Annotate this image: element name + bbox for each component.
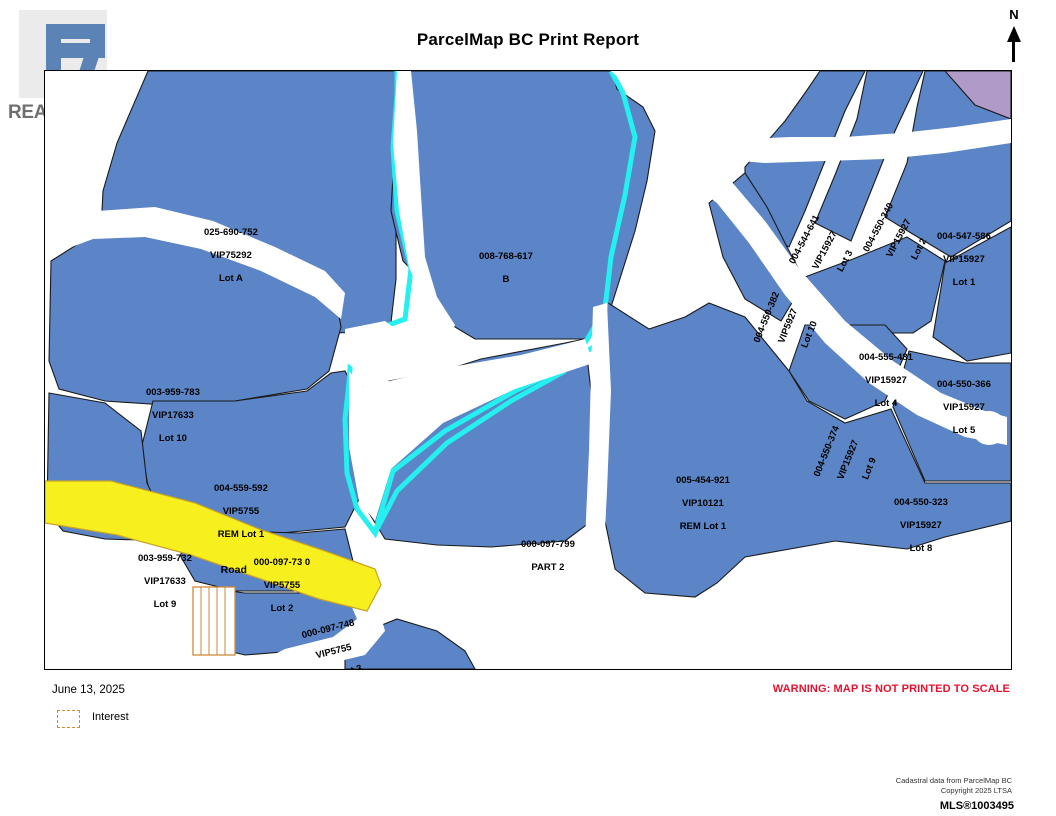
compass-arrow-stem (1012, 40, 1015, 62)
legend: Interest (52, 708, 292, 730)
legend-swatch-interest (57, 710, 80, 728)
print-report-page: REALTOR® ParcelMap BC Print Report N (0, 0, 1056, 816)
legend-label-interest: Interest (92, 711, 129, 723)
north-label: N (996, 8, 1032, 22)
north-arrow-icon: N (996, 8, 1032, 66)
interest-hatch-rect (193, 587, 235, 655)
report-date: June 13, 2025 (52, 684, 125, 696)
page-title: ParcelMap BC Print Report (0, 30, 1056, 50)
mls-number: MLS®1003495 (940, 800, 1014, 812)
parcel-map[interactable]: 025-690-752 VIP75292 Lot A 008-768-617 B… (44, 70, 1012, 670)
map-vector-layer (45, 71, 1011, 669)
credit-line-1: Cadastral data from ParcelMap BC (896, 776, 1012, 786)
road-white-center-gap (345, 321, 401, 371)
road-white-cul-de-sac (972, 411, 1006, 445)
credit-line-2: Copyright 2025 LTSA (896, 786, 1012, 796)
data-credits: Cadastral data from ParcelMap BC Copyrig… (896, 776, 1012, 796)
scale-warning: WARNING: MAP IS NOT PRINTED TO SCALE (773, 683, 1010, 695)
interest-hatch-area (193, 587, 235, 655)
